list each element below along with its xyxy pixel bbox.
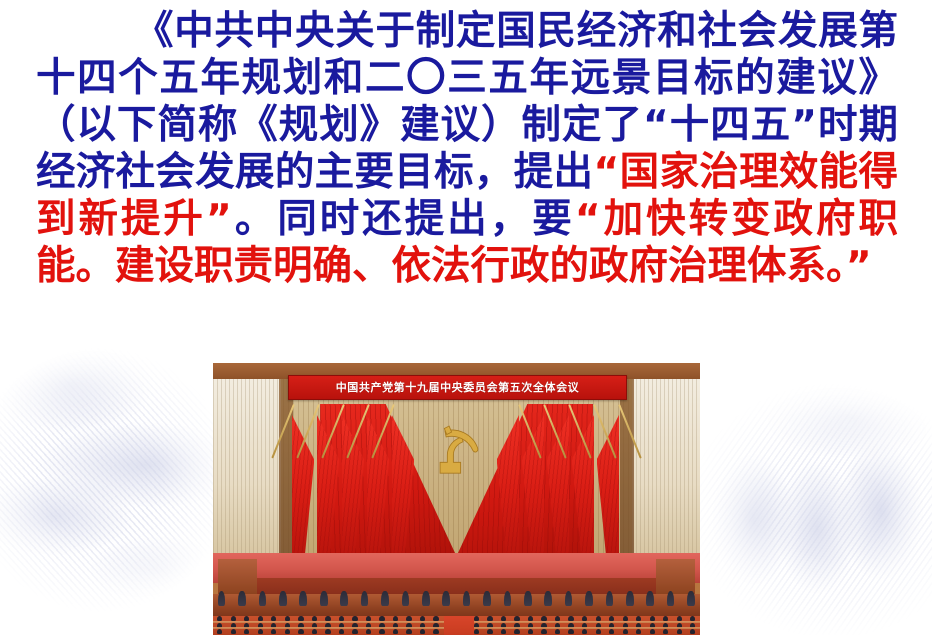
- attendee: [582, 629, 587, 634]
- attendee: [339, 629, 344, 634]
- attendee: [541, 629, 546, 634]
- attendee: [433, 629, 438, 634]
- body-paragraph: 《中共中央关于制定国民经济和社会发展第十四个五年规划和二〇三五年远景目标的建议》…: [36, 8, 898, 290]
- attendee: [650, 629, 655, 634]
- attendee: [406, 629, 411, 634]
- delegate: [279, 591, 287, 606]
- attendee: [258, 629, 263, 634]
- podium-right: [656, 559, 695, 594]
- attendee: [501, 629, 506, 634]
- red-flag: [571, 404, 597, 556]
- attendee: [420, 629, 425, 634]
- watermark-right-shape: [672, 360, 932, 635]
- delegate: [320, 591, 328, 606]
- conference-banner: 中国共产党第十九届中央委员会第五次全体会议: [288, 375, 626, 400]
- side-drape-left: [213, 363, 281, 564]
- red-flag: [496, 404, 522, 556]
- attendee: [568, 629, 573, 634]
- red-flag: [391, 404, 417, 556]
- attendee: [555, 629, 560, 634]
- attendee: [325, 629, 330, 634]
- attendee: [636, 629, 641, 634]
- attendee: [352, 629, 357, 634]
- delegate: [422, 591, 430, 606]
- flag-cloth: [367, 414, 390, 556]
- delegate: [299, 591, 307, 606]
- flag-cloth: [497, 414, 520, 556]
- delegate: [687, 591, 695, 606]
- delegate: [606, 591, 614, 606]
- delegate: [463, 591, 471, 606]
- delegate: [361, 591, 369, 606]
- attendee: [231, 629, 236, 634]
- delegate: [626, 591, 634, 606]
- slide-canvas: 《中共中央关于制定国民经济和社会发展第十四个五年规划和二〇三五年远景目标的建议》…: [0, 0, 932, 635]
- delegate: [238, 591, 246, 606]
- red-flag: [521, 404, 547, 556]
- delegate: [483, 591, 491, 606]
- attendee: [298, 629, 303, 634]
- paragraph-line: 《中共中央关于制定国民经济和社会发展第十四个五年规划和二〇三五年远景目标的建议》…: [36, 8, 898, 290]
- text-segment-blue-2: 。同时还提出，要: [232, 196, 575, 242]
- delegate: [524, 591, 532, 606]
- attendee: [244, 629, 249, 634]
- delegate: [667, 591, 675, 606]
- attendee: [677, 629, 682, 634]
- attendee: [217, 629, 222, 634]
- attendee: [474, 629, 479, 634]
- conference-banner-text: 中国共产党第十九届中央委员会第五次全体会议: [336, 382, 580, 393]
- attendee: [690, 629, 695, 634]
- flag-cloth: [342, 414, 365, 556]
- attendee: [271, 629, 276, 634]
- head-table-delegates: [213, 591, 700, 606]
- delegate: [504, 591, 512, 606]
- attendee: [514, 629, 519, 634]
- red-flag: [596, 404, 622, 556]
- delegate: [218, 591, 226, 606]
- red-flag: [316, 404, 342, 556]
- attendee: [393, 629, 398, 634]
- plenary-session-photo: 中国共产党第十九届中央委员会第五次全体会议: [213, 363, 700, 635]
- delegate: [565, 591, 573, 606]
- flag-cloth: [392, 414, 415, 556]
- red-flag: [366, 404, 392, 556]
- delegate: [442, 591, 450, 606]
- red-flag: [546, 404, 572, 556]
- delegate: [340, 591, 348, 606]
- flag-group-left: [291, 404, 422, 556]
- attendee: [487, 629, 492, 634]
- attendee: [609, 629, 614, 634]
- delegate: [646, 591, 654, 606]
- flag-cloth: [317, 414, 340, 556]
- attendee: [623, 629, 628, 634]
- attendee: [663, 629, 668, 634]
- red-flag: [291, 404, 317, 556]
- attendee: [596, 629, 601, 634]
- attendee: [285, 629, 290, 634]
- attendee: [379, 629, 384, 634]
- delegate: [402, 591, 410, 606]
- delegate: [259, 591, 267, 606]
- flag-cloth: [292, 414, 315, 556]
- center-aisle: [444, 616, 473, 635]
- delegate: [381, 591, 389, 606]
- attendee: [312, 629, 317, 634]
- attendee: [366, 629, 371, 634]
- delegate: [544, 591, 552, 606]
- flag-group-right: [491, 404, 622, 556]
- red-flag: [341, 404, 367, 556]
- delegate: [585, 591, 593, 606]
- attendee: [528, 629, 533, 634]
- hammer-and-sickle-icon: [426, 420, 488, 478]
- podium-left: [218, 559, 257, 594]
- side-drape-right: [632, 363, 700, 564]
